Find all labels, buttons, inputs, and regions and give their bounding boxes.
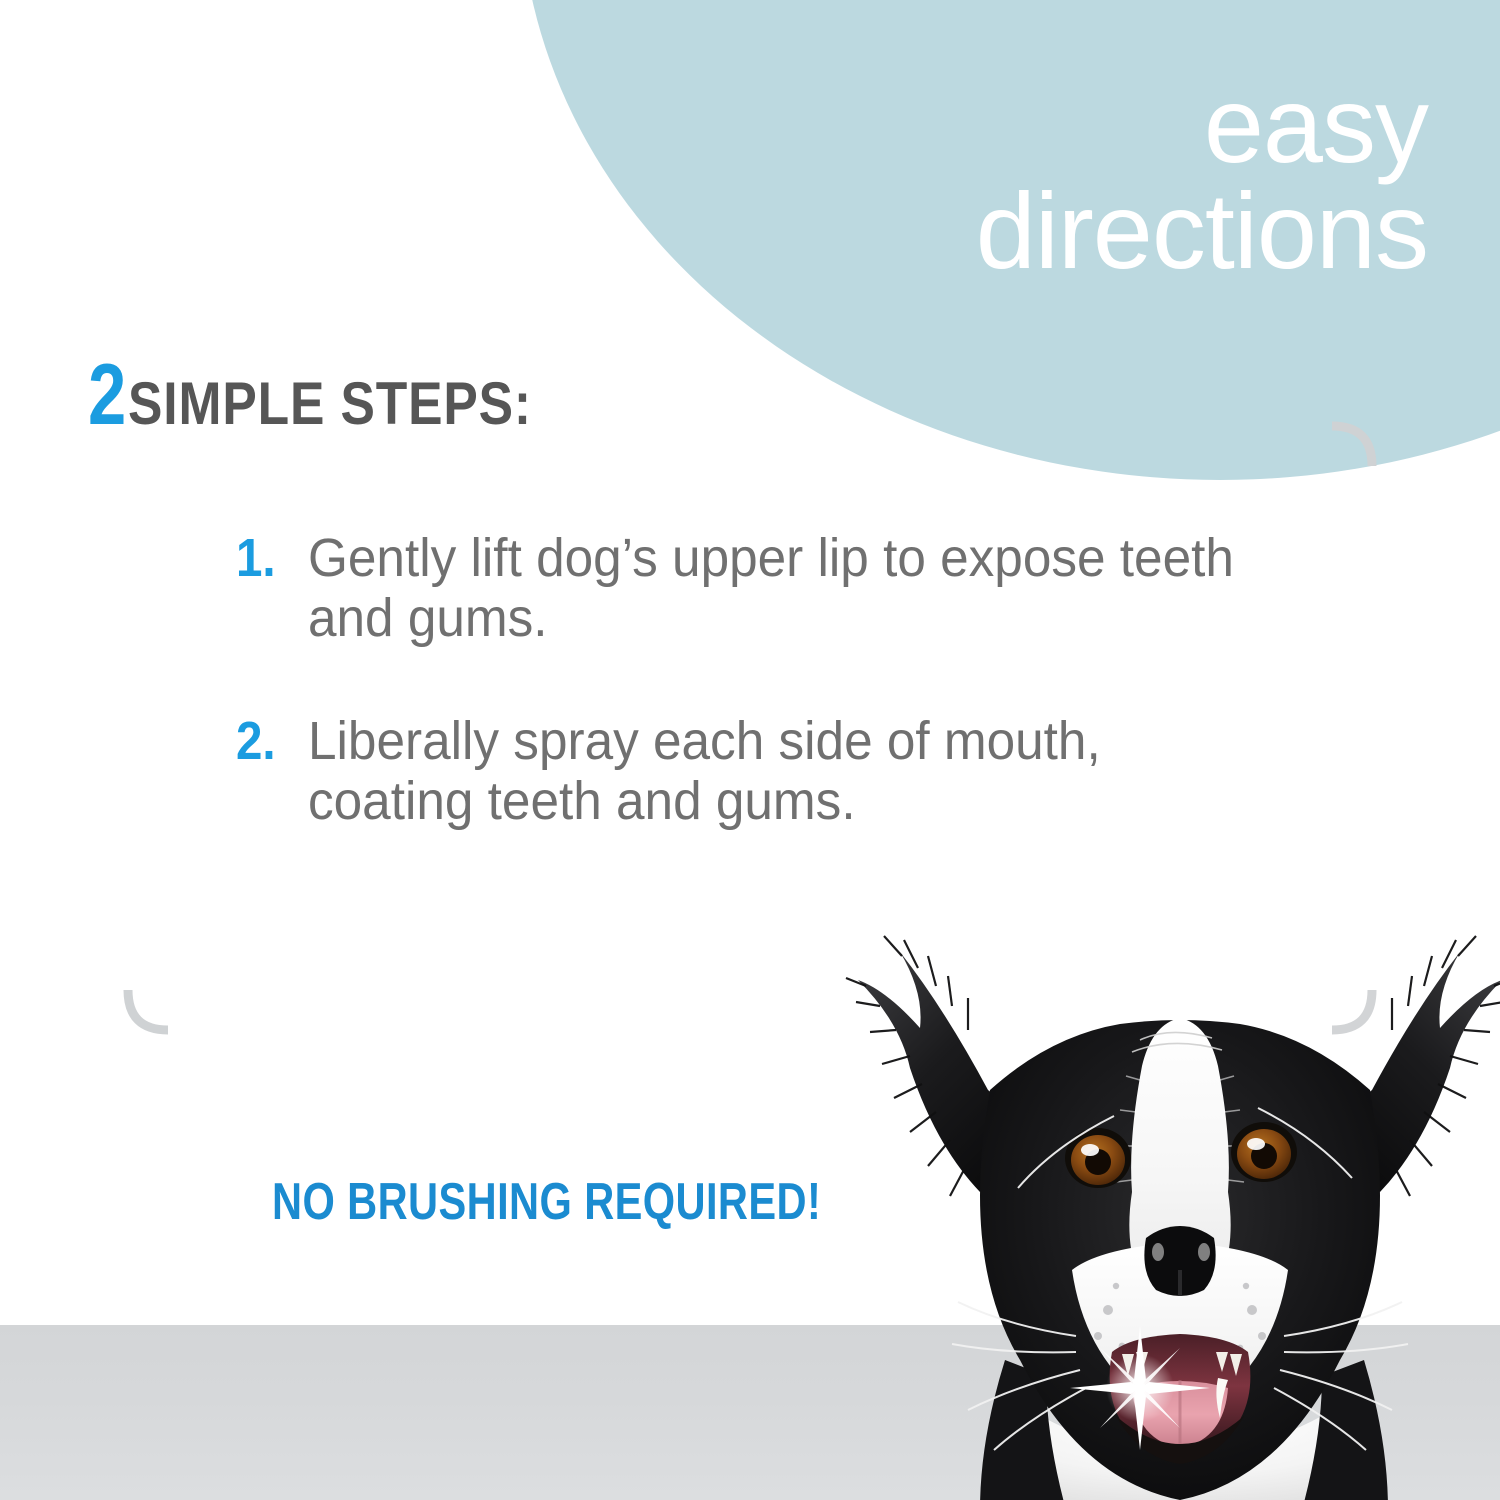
steps-heading-label: SIMPLE STEPS: xyxy=(128,374,532,434)
directions-infographic: easy directions xyxy=(0,0,1500,1500)
dog-photo xyxy=(840,840,1500,1500)
step-marker: 2. xyxy=(236,711,299,771)
list-item: 1. Gently lift dog’s upper lip to expose… xyxy=(236,528,1316,649)
step-text: Gently lift dog’s upper lip to expose te… xyxy=(308,528,1266,649)
steps-count: 2 xyxy=(88,352,126,438)
step-text: Liberally spray each side of mouth, coat… xyxy=(308,711,1266,832)
list-item: 2. Liberally spray each side of mouth, c… xyxy=(236,711,1316,832)
steps-heading: 2 SIMPLE STEPS: xyxy=(88,352,598,438)
step-marker: 1. xyxy=(236,528,299,588)
headline-line-2: directions xyxy=(976,178,1428,284)
page-title: easy directions xyxy=(976,72,1428,284)
headline-line-1: easy xyxy=(976,72,1428,178)
tagline: NO BRUSHING REQUIRED! xyxy=(272,1172,821,1232)
steps-list: 1. Gently lift dog’s upper lip to expose… xyxy=(236,528,1316,894)
